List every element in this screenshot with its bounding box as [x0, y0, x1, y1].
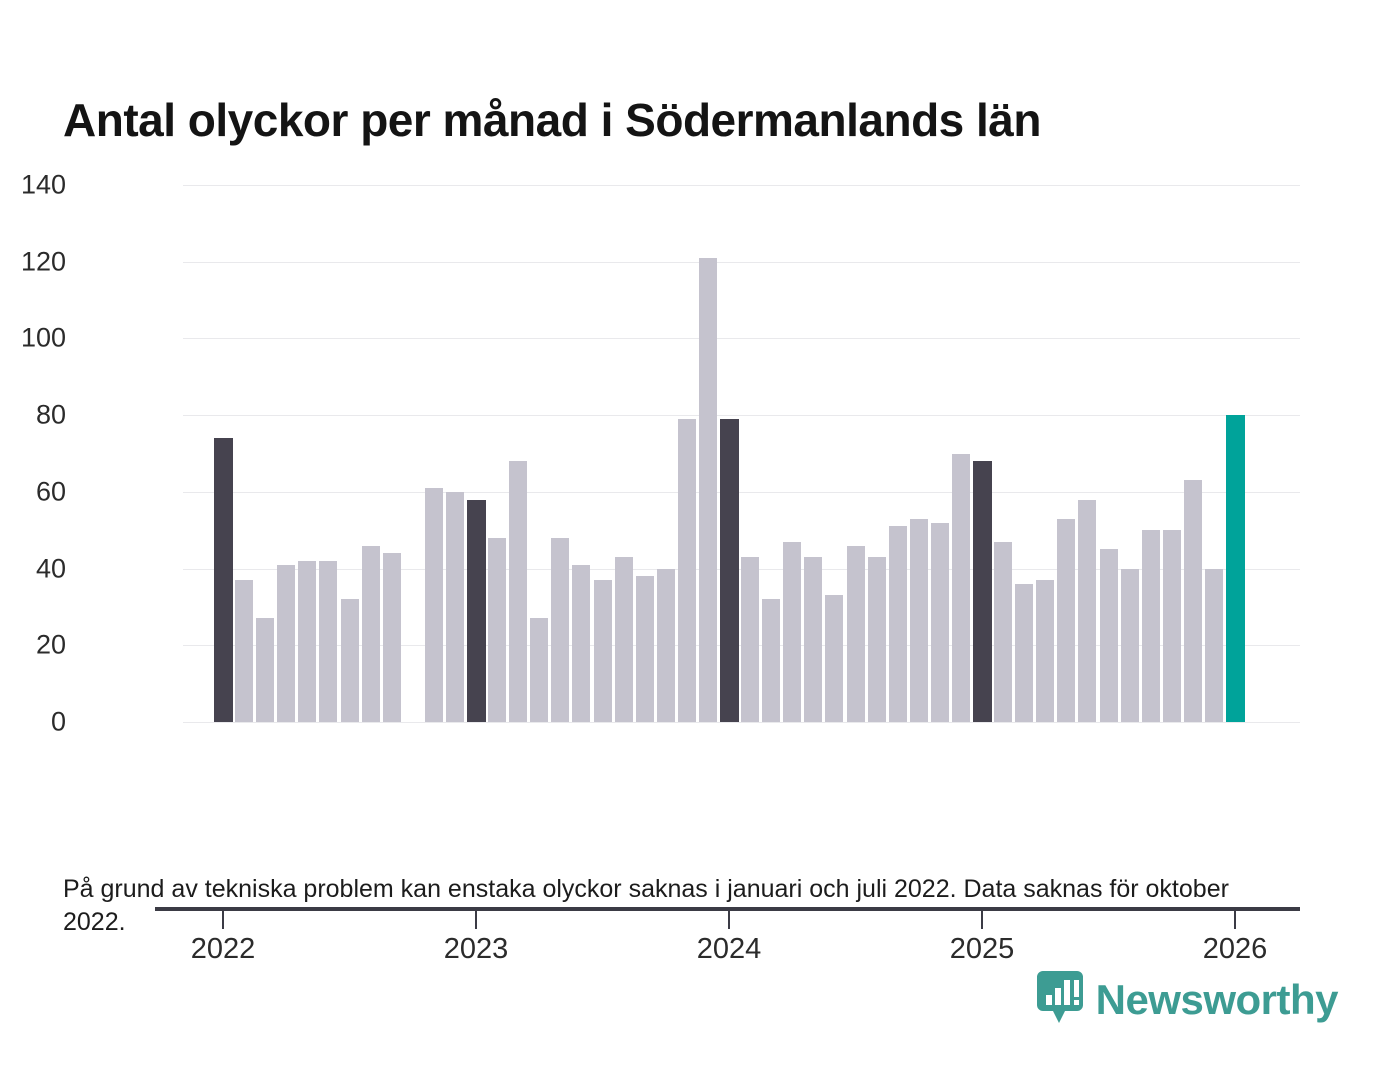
bar — [783, 542, 801, 722]
bar — [1078, 500, 1096, 722]
bar — [636, 576, 654, 722]
bar — [1015, 584, 1033, 722]
y-axis-tick-label: 0 — [0, 707, 66, 738]
bar — [298, 561, 316, 722]
bar — [425, 488, 443, 722]
bar — [762, 599, 780, 722]
gridline — [183, 492, 1300, 493]
bar — [214, 438, 233, 722]
y-axis-tick-label: 120 — [0, 246, 66, 277]
bar — [847, 546, 865, 722]
newsworthy-logo: Newsworthy — [1037, 971, 1338, 1028]
bar — [383, 553, 401, 722]
bar — [910, 519, 928, 722]
bar — [615, 557, 633, 722]
gridline — [183, 185, 1300, 186]
logo-wordmark: Newsworthy — [1096, 979, 1338, 1021]
bar-chart-speech-bubble-icon — [1037, 971, 1083, 1028]
bar — [1163, 530, 1181, 722]
bar — [952, 454, 970, 723]
bar — [467, 500, 486, 722]
bar — [1100, 549, 1118, 722]
bar — [256, 618, 274, 722]
bar — [1036, 580, 1054, 722]
bar — [362, 546, 380, 722]
bar — [1184, 480, 1202, 722]
y-axis-tick-label: 100 — [0, 323, 66, 354]
bar-chart: 020406080100120140 20222023202420252026 — [0, 0, 1400, 800]
gridline — [183, 722, 1300, 723]
bar — [699, 258, 717, 722]
bar — [889, 526, 907, 722]
bar — [594, 580, 612, 722]
bar — [657, 569, 675, 722]
bar — [341, 599, 359, 722]
bar — [530, 618, 548, 722]
bar — [994, 542, 1012, 722]
bar — [1121, 569, 1139, 722]
gridline — [183, 338, 1300, 339]
plot-area: 020406080100120140 20222023202420252026 — [183, 185, 1300, 722]
bar — [868, 557, 886, 722]
bar — [1142, 530, 1160, 722]
y-axis-tick-label: 80 — [0, 400, 66, 431]
y-axis-tick-label: 140 — [0, 170, 66, 201]
bar — [235, 580, 253, 722]
y-axis-tick-label: 40 — [0, 553, 66, 584]
gridline — [183, 415, 1300, 416]
bar — [319, 561, 337, 722]
bar — [488, 538, 506, 722]
bar — [741, 557, 759, 722]
bar — [277, 565, 295, 722]
bar — [804, 557, 822, 722]
y-axis-tick-label: 20 — [0, 630, 66, 661]
bar — [572, 565, 590, 722]
bar — [551, 538, 569, 722]
gridline — [183, 262, 1300, 263]
bar — [825, 595, 843, 722]
bar — [1226, 415, 1245, 722]
bar — [1205, 569, 1223, 722]
bar — [931, 523, 949, 722]
y-axis-tick-label: 60 — [0, 476, 66, 507]
chart-caption: På grund av tekniska problem kan enstaka… — [63, 873, 1283, 939]
bar — [720, 419, 739, 722]
bar — [678, 419, 696, 722]
bar — [509, 461, 527, 722]
bar — [973, 461, 992, 722]
bar — [1057, 519, 1075, 722]
bar — [446, 492, 464, 722]
